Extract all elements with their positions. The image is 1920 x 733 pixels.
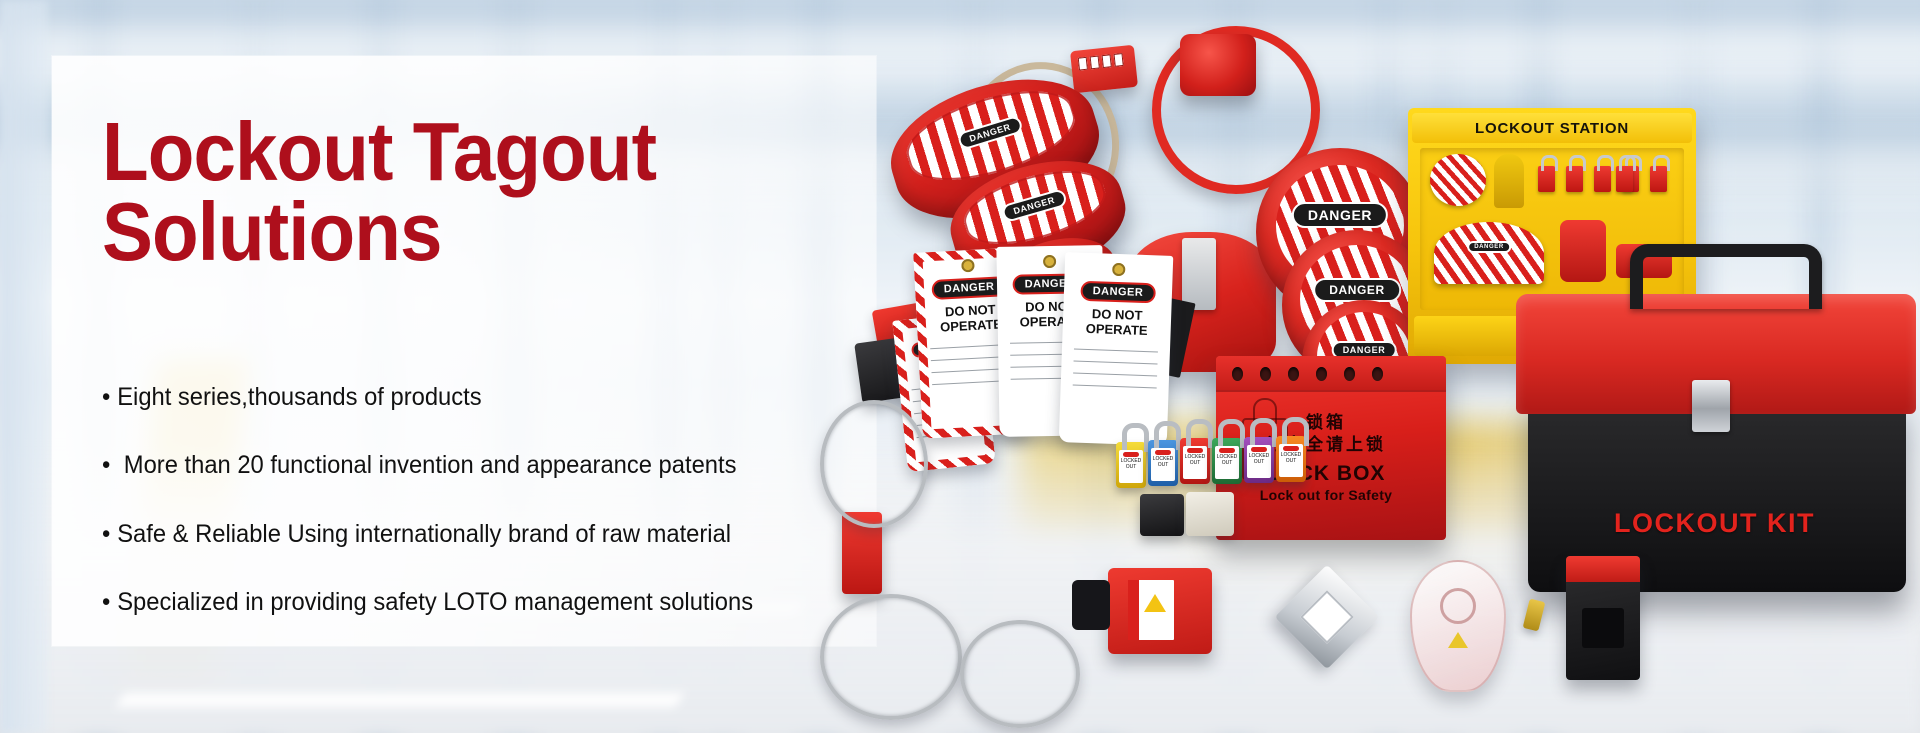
background-left-frame [0, 0, 48, 733]
group-lockout-box [1108, 568, 1212, 654]
safety-padlock-yellow: LOCKED OUT [1116, 442, 1146, 488]
padlock-label: LOCKED OUT [1183, 446, 1207, 479]
station-padlock [1616, 166, 1633, 192]
safety-padlock-purple: LOCKED OUT [1244, 437, 1274, 483]
warning-triangle-icon [1448, 632, 1468, 648]
padlock-label: LOCKED OUT [1247, 445, 1271, 478]
danger-label: DANGER [1292, 202, 1388, 228]
bullet-marker-icon: • [102, 382, 117, 413]
lockout-station-title: LOCKOUT STATION [1412, 113, 1692, 143]
feature-bullet-list: •Eight series,thousands of products • Mo… [102, 382, 852, 655]
bag-clasp [1182, 238, 1216, 310]
station-padlock [1538, 166, 1555, 192]
station-hasp-icon [1494, 154, 1524, 208]
danger-label: DANGER [1000, 188, 1067, 223]
cable-lockout-loop-2 [960, 620, 1080, 728]
bullet-marker-icon: • [102, 519, 117, 550]
wall-switch-lockout [1566, 556, 1640, 680]
product-collage: DANGER DANGER DANGER DANGER DANGER DANGE… [930, 0, 1920, 733]
cube-padlock-black [1140, 494, 1184, 536]
station-padlock [1566, 166, 1583, 192]
cable-lockout-lower-loop [820, 594, 962, 720]
clear-cover-ring [1440, 588, 1476, 624]
padlock-label: LOCKED OUT [1215, 446, 1239, 479]
cable-lockout-upper-loop [820, 400, 928, 528]
danger-label: DANGER [956, 115, 1023, 151]
wall-switch-slot [1582, 608, 1624, 648]
bullet-text: Safe & Reliable Using internationally br… [117, 520, 731, 548]
group-box-hasp [1072, 580, 1110, 630]
clear-valve-cover [1410, 560, 1506, 692]
text-panel: Lockout Tagout Solutions •Eight series,t… [52, 56, 876, 646]
danger-label: DANGER [1313, 278, 1401, 302]
lock-box-en-line-2: Lock out for Safety [1216, 487, 1436, 503]
toolbox-latch [1692, 380, 1730, 432]
padlock-label: LOCKED OUT [1119, 450, 1143, 483]
lock-box-lip [1216, 356, 1446, 392]
tag-message: DO NOT OPERATE [1062, 306, 1171, 340]
danger-warning-label [1128, 580, 1174, 640]
lock-box-cn-line-1: 锁箱 [1216, 412, 1436, 434]
list-item: •Safe & Reliable Using internationally b… [102, 519, 815, 550]
list-item: •Specialized in providing safety LOTO ma… [102, 587, 815, 618]
lockout-kit-label: LOCKOUT KIT [1614, 508, 1815, 539]
background-floor-highlight [117, 693, 683, 707]
list-item: • More than 20 functional invention and … [102, 450, 815, 481]
padlock-label: LOCKED OUT [1279, 444, 1303, 477]
station-padlock [1594, 166, 1611, 192]
bullet-text: Specialized in providing safety LOTO man… [117, 588, 753, 616]
list-item: •Eight series,thousands of products [102, 382, 815, 413]
toolbox-handle [1630, 244, 1822, 309]
page-title: Lockout Tagout Solutions [102, 112, 656, 271]
station-large-valve-cover: DANGER [1434, 222, 1544, 284]
danger-label: DANGER [931, 276, 1007, 300]
safety-padlock-orange: LOCKED OUT [1276, 436, 1306, 482]
bullet-text: Eight series,thousands of products [117, 383, 481, 411]
cube-padlock-white [1186, 492, 1234, 536]
safety-padlock-blue: LOCKED OUT [1148, 440, 1178, 486]
padlock-label: LOCKED OUT [1151, 448, 1175, 481]
lock-key [1523, 599, 1546, 632]
wall-switch-red-cap [1566, 556, 1640, 582]
warning-triangle-icon [1144, 594, 1166, 612]
safety-padlock-green: LOCKED OUT [1212, 438, 1242, 484]
station-cylinder-lockout [1560, 220, 1606, 282]
station-valve-cover-icon [1430, 154, 1486, 206]
station-padlock [1650, 166, 1667, 192]
danger-label: DANGER [1080, 281, 1155, 304]
danger-tag-white-2: DANGER DO NOT OPERATE [1059, 252, 1174, 446]
lock-box-hasp-holes [1232, 367, 1383, 381]
safety-padlock-red: LOCKED OUT [1180, 438, 1210, 484]
plug-lockout-red [1180, 34, 1256, 96]
danger-label: DANGER [1467, 241, 1511, 253]
combination-cable-lock [1070, 45, 1138, 93]
bullet-marker-icon: • [102, 450, 117, 481]
bullet-marker-icon: • [102, 587, 117, 618]
bullet-text: More than 20 functional invention and ap… [117, 451, 736, 479]
lockout-tagout-banner: Lockout Tagout Solutions •Eight series,t… [0, 0, 1920, 733]
